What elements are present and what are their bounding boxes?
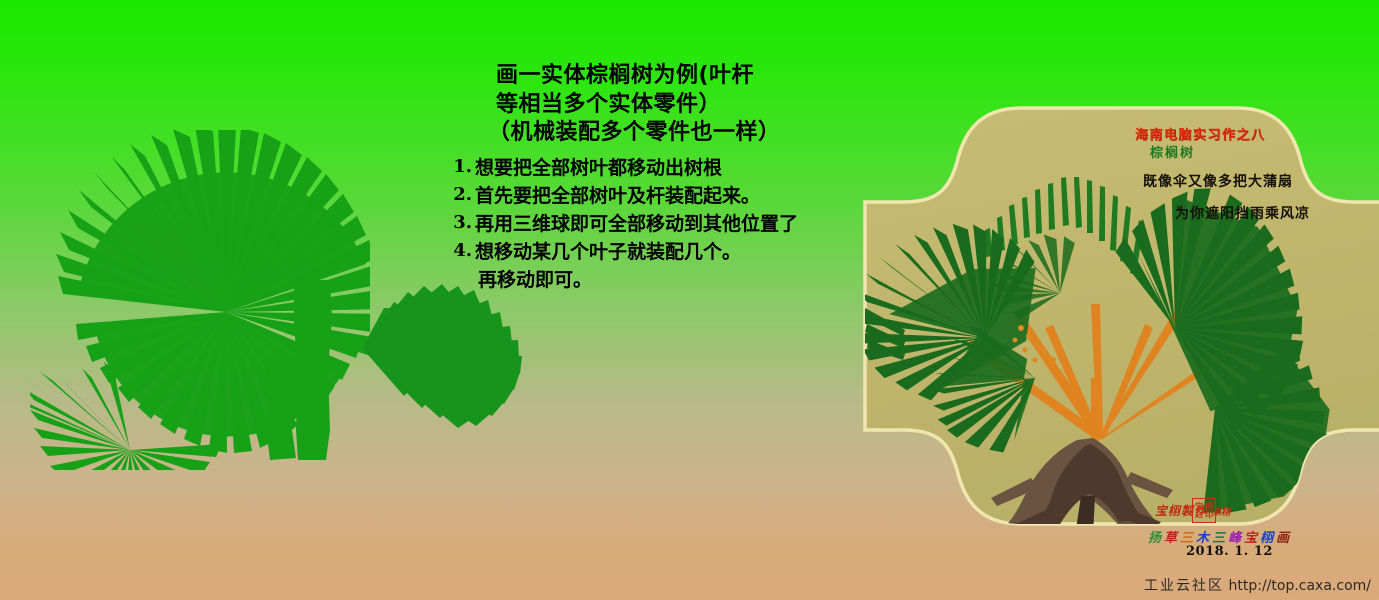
left-palm-artwork [30, 130, 370, 470]
palm-painting-plaque: 海南电脑实习作之八 棕榈树 既像伞又像多把大蒲扇 为你遮阳挡雨乘风凉 宝栩製作 … [845, 78, 1379, 548]
middle-palm-leaf-artwork [350, 280, 540, 455]
step-text: 再用三维球即可全部移动到其他位置了 [475, 210, 798, 238]
step-number: 2. [448, 182, 472, 209]
heading-line-1: 画一实体棕榈树为例(叶杆 [448, 62, 878, 91]
list-item: 2. 首先要把全部树叶及杆装配起来。 [448, 182, 878, 210]
plaque-poem-line-1: 既像伞又像多把大蒲扇 [1143, 171, 1293, 191]
instruction-text-block: 画一实体棕榈树为例(叶杆 等相当多个实体零件） （机械装配多个零件也一样） 1.… [448, 62, 878, 294]
step-continuation-text: 再移动即可。 [448, 266, 592, 294]
step-text: 首先要把全部树叶及杆装配起来。 [475, 182, 760, 210]
list-item: 4. 想移动某几个叶子就装配几个。 [448, 238, 878, 266]
list-item: 3. 再用三维球即可全部移动到其他位置了 [448, 210, 878, 238]
instruction-heading: 画一实体棕榈树为例(叶杆 等相当多个实体零件） （机械装配多个零件也一样） [448, 62, 878, 148]
heading-line-3: （机械装配多个零件也一样） [448, 119, 878, 148]
seal-char-4: 印 [1204, 511, 1214, 519]
screenshot-canvas: 画一实体棕榈树为例(叶杆 等相当多个实体零件） （机械装配多个零件也一样） 1.… [0, 0, 1379, 600]
footer-community-name: 工业云社区 [1144, 578, 1224, 594]
plaque-title-red: 海南电脑实习作之八 [1135, 124, 1266, 143]
step-number: 3. [448, 210, 472, 237]
plaque-date: 2018. 1. 12 [1186, 544, 1273, 559]
list-item: 1. 想要把全部树叶都移动出树根 [448, 154, 878, 182]
artist-seal-stamp: 宝 栩 之 印 [1192, 498, 1216, 523]
instruction-step-list: 1. 想要把全部树叶都移动出树根 2. 首先要把全部树叶及杆装配起来。 3. 再… [448, 154, 878, 295]
plaque-text-layer: 海南电脑实习作之八 棕榈树 既像伞又像多把大蒲扇 为你遮阳挡雨乘风凉 宝栩製作 … [845, 78, 1379, 548]
footer-url: http://top.caxa.com/ [1229, 578, 1372, 594]
step-text: 想要把全部树叶都移动出树根 [475, 154, 722, 182]
seal-char-3: 之 [1194, 511, 1204, 519]
step-number: 4. [448, 238, 472, 265]
heading-line-2: 等相当多个实体零件） [448, 91, 878, 120]
plaque-subtitle-green: 棕榈树 [1150, 142, 1195, 161]
plaque-poem-line-2: 为你遮阳挡雨乘风凉 [1175, 203, 1310, 223]
footer-watermark: 工业云社区 http://top.caxa.com/ [1144, 575, 1371, 595]
step-number: 1. [448, 154, 472, 181]
list-item-continuation: 再移动即可。 [448, 266, 878, 294]
step-text: 想移动某几个叶子就装配几个。 [475, 238, 741, 266]
